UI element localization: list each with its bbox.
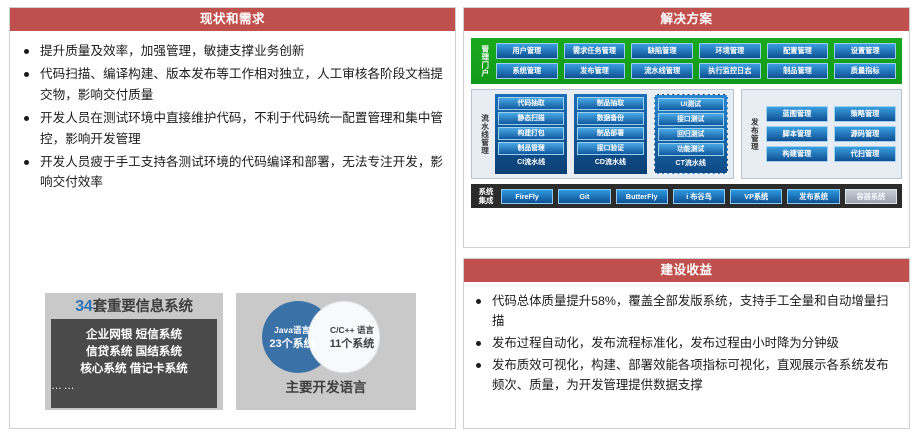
portal-button-execution-monitor-log[interactable]: 执行监控日志 <box>699 63 761 79</box>
systems-ellipsis: …… <box>51 380 217 392</box>
management-portal-section: 管理门户 用户管理 需求任务管理 缺陷管理 环境管理 配置管理 设置管理 系统管… <box>471 38 902 84</box>
integration-button-git[interactable]: Git <box>558 189 610 204</box>
current-status-panel: 现状和需求 提升质量及效率，加强管理，敏捷支撑业务创新 代码扫描、编译构建、版本… <box>9 7 456 429</box>
portal-button-pipeline-management[interactable]: 流水线管理 <box>631 63 693 79</box>
release-button-blueprint-management[interactable]: 蓝图管理 <box>766 106 828 122</box>
systems-row: 信贷系统 国结系统 <box>51 343 217 360</box>
release-button-build-management[interactable]: 构建管理 <box>766 146 828 162</box>
list-item: 开发人员疲于手工支持各测试环境的代码编译和部署，无法专注开发，影响交付效率 <box>22 152 443 193</box>
cd-stage-artifact-deploy[interactable]: 制品部署 <box>577 127 643 140</box>
languages-venn-block: Java语言 23个系统 C/C++ 语言 11个系统 主要开发语言 <box>236 293 416 410</box>
systems-heading-rest: 重要信息系统 <box>107 299 193 315</box>
system-integration-section: 系统集成 FireFly Git ButterFly i 布谷鸟 VP系统 发布… <box>471 184 902 208</box>
integration-button-butterfly[interactable]: ButterFly <box>616 189 668 204</box>
portal-button-release-management[interactable]: 发布管理 <box>564 63 626 79</box>
release-management-label: 发布管理 <box>747 94 762 174</box>
integration-button-cuckoo[interactable]: i 布谷鸟 <box>673 189 725 204</box>
important-systems-block: 34套重要信息系统 企业网银 短信系统 信贷系统 国结系统 核心系统 借记卡系统… <box>45 293 223 410</box>
integration-button-firefly[interactable]: FireFly <box>501 189 553 204</box>
venn-label-cpp: C/C++ 语言 11个系统 <box>316 301 388 373</box>
benefits-bullet-list: 代码总体质量提升58%，覆盖全部发版系统，支持手工全量和自动增量扫描 发布过程自… <box>474 291 897 395</box>
release-button-policy-management[interactable]: 策略管理 <box>834 106 896 122</box>
cd-stage-interface-verify[interactable]: 接口验证 <box>577 142 643 155</box>
pipeline-columns: 代码抽取 静态扫描 构建打包 制品管理 CI流水线 制品抽取 数据备份 制品部署… <box>495 94 728 174</box>
portal-button-settings-management[interactable]: 设置管理 <box>834 43 896 59</box>
cd-stage-artifact-extract[interactable]: 制品抽取 <box>577 97 643 110</box>
portal-button-quality-metrics[interactable]: 质量指标 <box>834 63 896 79</box>
current-status-panel-title: 现状和需求 <box>10 8 455 31</box>
pipeline-footer-ci: CI流水线 <box>498 157 564 169</box>
benefits-panel-title: 建设收益 <box>464 259 909 282</box>
systems-row: 企业网银 短信系统 <box>51 326 217 343</box>
ct-stage-regression-test[interactable]: 回归测试 <box>658 128 724 141</box>
list-item: 代码扫描、编译构建、版本发布等工作相对独立，人工审核各阶段文档提交物，影响交付质… <box>22 64 443 105</box>
management-portal-button-grid: 用户管理 需求任务管理 缺陷管理 环境管理 配置管理 设置管理 系统管理 发布管… <box>496 43 896 79</box>
release-button-source-management[interactable]: 源码管理 <box>834 126 896 142</box>
list-item: 代码总体质量提升58%，覆盖全部发版系统，支持手工全量和自动增量扫描 <box>474 291 897 331</box>
important-systems-heading: 34套重要信息系统 <box>51 298 217 316</box>
portal-button-configuration-management[interactable]: 配置管理 <box>767 43 829 59</box>
venn-caption: 主要开发语言 <box>236 376 416 396</box>
portal-button-environment-management[interactable]: 环境管理 <box>699 43 761 59</box>
venn-java-count: 23个系统 <box>269 337 314 351</box>
current-status-panel-body: 提升质量及效率，加强管理，敏捷支撑业务创新 代码扫描、编译构建、版本发布等工作相… <box>10 31 455 193</box>
list-item: 开发人员在测试环境中直接维护代码，不利于代码统一配置管理和集中管控，影响开发管理 <box>22 108 443 149</box>
ct-stage-functional-test[interactable]: 功能测试 <box>658 143 724 156</box>
list-item: 提升质量及效率，加强管理，敏捷支撑业务创新 <box>22 41 443 61</box>
venn-diagram: Java语言 23个系统 C/C++ 语言 11个系统 <box>236 293 416 378</box>
solution-panel-body: 管理门户 用户管理 需求任务管理 缺陷管理 环境管理 配置管理 设置管理 系统管… <box>464 31 909 214</box>
portal-button-user-management[interactable]: 用户管理 <box>496 43 558 59</box>
pipeline-column-cd: 制品抽取 数据备份 制品部署 接口验证 CD流水线 <box>574 94 646 174</box>
pipeline-release-row: 流水线管理 代码抽取 静态扫描 构建打包 制品管理 CI流水线 制品抽取 数据 <box>471 89 902 179</box>
pipeline-footer-cd: CD流水线 <box>577 157 643 169</box>
ci-stage-code-extract[interactable]: 代码抽取 <box>498 97 564 110</box>
current-status-bullet-list: 提升质量及效率，加强管理，敏捷支撑业务创新 代码扫描、编译构建、版本发布等工作相… <box>22 41 443 193</box>
ct-stage-interface-test[interactable]: 接口测试 <box>658 113 724 126</box>
portal-button-requirement-task-management[interactable]: 需求任务管理 <box>564 43 626 59</box>
ci-stage-artifact-management[interactable]: 制品管理 <box>498 142 564 155</box>
pipeline-section-label: 流水线管理 <box>477 94 492 174</box>
release-management-section: 发布管理 蓝图管理 策略管理 脚本管理 源码管理 构建管理 代扫管理 <box>741 89 902 179</box>
systems-count-unit: 套 <box>93 299 107 315</box>
list-item: 发布过程自动化，发布流程标准化，发布过程由小时降为分钟级 <box>474 333 897 353</box>
release-button-script-management[interactable]: 脚本管理 <box>766 126 828 142</box>
system-integration-buttons: FireFly Git ButterFly i 布谷鸟 VP系统 发布系统 容器… <box>501 189 897 204</box>
systems-row: 核心系统 借记卡系统 <box>51 360 217 377</box>
systems-count: 34 <box>75 298 92 315</box>
venn-java-language: Java语言 <box>274 324 310 337</box>
benefits-panel: 建设收益 代码总体质量提升58%，覆盖全部发版系统，支持手工全量和自动增量扫描 … <box>463 258 910 429</box>
ci-stage-static-scan[interactable]: 静态扫描 <box>498 112 564 125</box>
portal-button-defect-management[interactable]: 缺陷管理 <box>631 43 693 59</box>
release-management-button-grid: 蓝图管理 策略管理 脚本管理 源码管理 构建管理 代扫管理 <box>766 94 896 174</box>
integration-button-release-system[interactable]: 发布系统 <box>787 189 839 204</box>
integration-button-vp-system[interactable]: VP系统 <box>730 189 782 204</box>
solution-panel-title: 解决方案 <box>464 8 909 31</box>
portal-button-artifact-management[interactable]: 制品管理 <box>767 63 829 79</box>
venn-cpp-language: C/C++ 语言 <box>330 324 374 337</box>
venn-cpp-count: 11个系统 <box>330 337 375 351</box>
release-button-code-scan-management[interactable]: 代扫管理 <box>834 146 896 162</box>
pipeline-section: 流水线管理 代码抽取 静态扫描 构建打包 制品管理 CI流水线 制品抽取 数据 <box>471 89 734 179</box>
list-item: 发布质效可视化，构建、部署效能各项指标可视化，直观展示各系统发布频次、质量，为开… <box>474 355 897 395</box>
pipeline-column-ci: 代码抽取 静态扫描 构建打包 制品管理 CI流水线 <box>495 94 567 174</box>
integration-button-container-system[interactable]: 容器系统 <box>845 189 897 204</box>
pipeline-footer-ct: CT流水线 <box>658 158 724 170</box>
ct-stage-ui-test[interactable]: UI测试 <box>658 98 724 111</box>
cd-stage-data-backup[interactable]: 数据备份 <box>577 112 643 125</box>
pipeline-column-ct: UI测试 接口测试 回归测试 功能测试 CT流水线 <box>654 94 728 174</box>
solution-panel: 解决方案 管理门户 用户管理 需求任务管理 缺陷管理 环境管理 配置管理 设置管… <box>463 7 910 248</box>
system-integration-label: 系统集成 <box>476 187 496 205</box>
slide-root: 现状和需求 提升质量及效率，加强管理，敏捷支撑业务创新 代码扫描、编译构建、版本… <box>0 0 919 436</box>
systems-name-box: 企业网银 短信系统 信贷系统 国结系统 核心系统 借记卡系统 …… <box>51 319 217 408</box>
portal-button-system-management[interactable]: 系统管理 <box>496 63 558 79</box>
benefits-panel-body: 代码总体质量提升58%，覆盖全部发版系统，支持手工全量和自动增量扫描 发布过程自… <box>464 282 909 395</box>
ci-stage-build-package[interactable]: 构建打包 <box>498 127 564 140</box>
management-portal-label: 管理门户 <box>477 43 493 79</box>
